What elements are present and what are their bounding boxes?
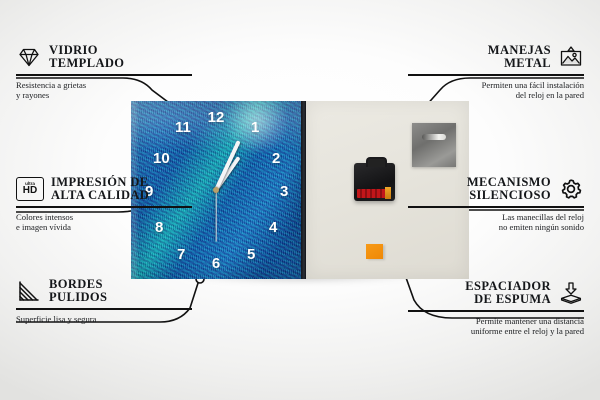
hour-hand [214, 156, 240, 191]
divider [16, 206, 192, 208]
foam-spacer-part [366, 244, 383, 259]
divider [408, 74, 584, 76]
hand-cap [213, 187, 219, 193]
clock-numeral: 4 [269, 220, 277, 235]
mechanism-shaft [366, 157, 387, 167]
polished-edge-icon [16, 279, 42, 303]
ultra-hd-icon: ultra HD [16, 177, 44, 201]
feature-title-line1: MECANISMO [467, 176, 551, 189]
feature-desc-line1: Permite mantener una distancia [408, 316, 584, 326]
feature-title-line2: ALTA CALIDAD [51, 189, 149, 202]
clock-numeral: 10 [153, 151, 170, 166]
feature-title-line2: METAL [488, 57, 551, 70]
divider [16, 308, 192, 310]
feature-title-line1: BORDES [49, 278, 107, 291]
feature-title-line1: MANEJAS [488, 44, 551, 57]
gear-icon [558, 177, 584, 201]
feature-desc-line2: y rayones [16, 90, 192, 100]
feature-desc-line2: uniforme entre el reloj y la pared [408, 326, 584, 336]
feature-impresion-alta-calidad: ultra HD IMPRESIÓN DE ALTA CALIDAD Color… [16, 176, 192, 232]
metal-hanger-part [412, 123, 456, 167]
feature-espaciador-espuma: ESPACIADOR DE ESPUMA Permite mantener un… [408, 280, 584, 336]
feature-desc-line1: Las manecillas del reloj [408, 212, 584, 222]
feature-desc-line1: Resistencia a grietas [16, 80, 192, 90]
wall-frame-icon [558, 45, 584, 69]
divider [408, 206, 584, 208]
clock-numeral: 3 [280, 184, 288, 199]
clock-numeral: 6 [212, 256, 220, 271]
feature-title-line2: DE ESPUMA [465, 293, 551, 306]
clock-numeral: 11 [175, 120, 191, 135]
feature-title-line2: PULIDOS [49, 291, 107, 304]
feature-title-line1: ESPACIADOR [465, 280, 551, 293]
feature-desc-line2: e imagen vívida [16, 222, 192, 232]
divider [16, 74, 192, 76]
clock-numeral: 1 [251, 120, 259, 135]
feature-bordes-pulidos: BORDES PULIDOS Superficie lisa y segura [16, 278, 192, 324]
minute-hand [214, 140, 240, 191]
feature-vidrio-templado: VIDRIO TEMPLADO Resistencia a grietas y … [16, 44, 192, 100]
second-hand [215, 190, 216, 242]
feature-desc-line1: Permiten una fácil instalación [408, 80, 584, 90]
clock-numeral: 5 [247, 247, 255, 262]
clock-numeral: 7 [177, 247, 185, 262]
feature-desc-line1: Colores intensos [16, 212, 192, 222]
feature-manejas-metal: MANEJAS METAL Permiten una fácil instala… [408, 44, 584, 100]
feature-title-line1: IMPRESIÓN DE [51, 176, 149, 189]
infographic-canvas: 12 1 2 3 4 5 6 7 8 9 10 11 [0, 0, 600, 400]
feature-title-line2: SILENCIOSO [467, 189, 551, 202]
battery [357, 189, 391, 198]
diamond-icon [16, 45, 42, 69]
hanger-slot [422, 134, 446, 140]
ultra-hd-big-text: HD [23, 186, 37, 196]
quartz-mechanism-part [354, 163, 395, 201]
feature-title-line1: VIDRIO [49, 44, 124, 57]
feature-desc-line2: no emiten ningún sonido [408, 222, 584, 232]
foam-spacer-icon [558, 281, 584, 305]
clock-numeral: 12 [208, 110, 225, 125]
feature-desc-line1: Superficie lisa y segura [16, 314, 192, 324]
divider [408, 310, 584, 312]
feature-title-line2: TEMPLADO [49, 57, 124, 70]
feature-desc-line2: del reloj en la pared [408, 90, 584, 100]
clock-numeral: 2 [272, 151, 280, 166]
feature-mecanismo-silencioso: MECANISMO SILENCIOSO Las manecillas del … [408, 176, 584, 232]
